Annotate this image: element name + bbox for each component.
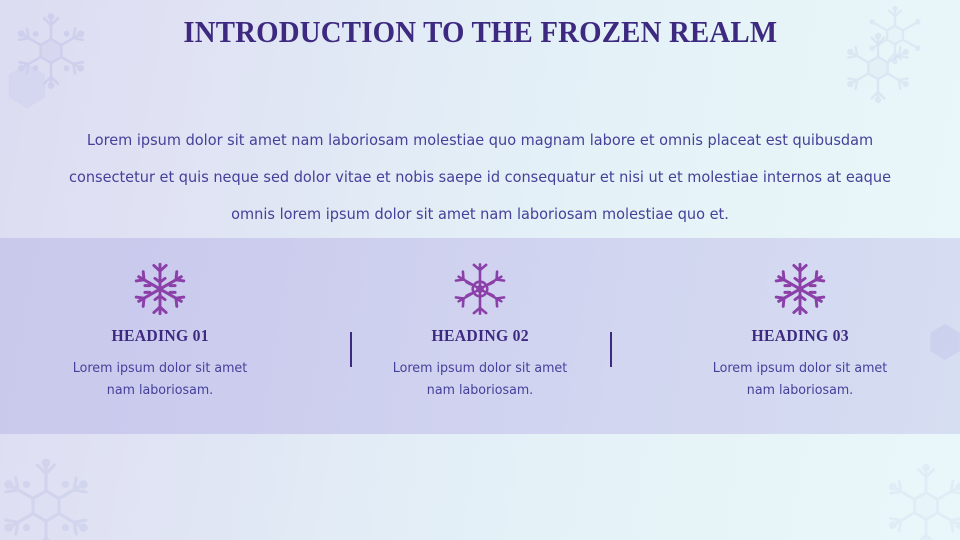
feature-heading-3: HEADING 03 bbox=[751, 326, 848, 346]
feature-body-2: Lorem ipsum dolor sit amet nam laboriosa… bbox=[389, 358, 571, 402]
decorative-snowflake-bottom-right bbox=[878, 458, 960, 540]
feature-body-1: Lorem ipsum dolor sit amet nam laboriosa… bbox=[69, 358, 251, 402]
column-divider-1 bbox=[350, 332, 352, 367]
feature-column-3: HEADING 03 Lorem ipsum dolor sit amet na… bbox=[640, 238, 960, 434]
page-title: INTRODUCTION TO THE FROZEN REALM bbox=[0, 14, 960, 50]
snowflake-icon bbox=[772, 261, 828, 317]
snowflake-icon bbox=[132, 261, 188, 317]
feature-heading-1: HEADING 01 bbox=[111, 326, 208, 346]
decorative-hexagon-top-left bbox=[6, 62, 48, 115]
feature-column-2: HEADING 02 Lorem ipsum dolor sit amet na… bbox=[320, 238, 640, 434]
feature-columns: HEADING 01 Lorem ipsum dolor sit amet na… bbox=[0, 238, 960, 434]
snowflake-ring-icon bbox=[452, 261, 508, 317]
feature-column-1: HEADING 01 Lorem ipsum dolor sit amet na… bbox=[0, 238, 320, 434]
column-divider-2 bbox=[610, 332, 612, 367]
page-title-text: INTRODUCTION TO THE FROZEN REALM bbox=[183, 14, 777, 50]
decorative-snowflake-bottom-left bbox=[0, 452, 100, 540]
intro-paragraph-text: Lorem ipsum dolor sit amet nam laboriosa… bbox=[67, 122, 892, 233]
intro-paragraph: Lorem ipsum dolor sit amet nam laboriosa… bbox=[48, 122, 912, 233]
feature-body-3: Lorem ipsum dolor sit amet nam laboriosa… bbox=[709, 358, 891, 402]
slide-canvas: INTRODUCTION TO THE FROZEN REALM Lorem i… bbox=[0, 0, 960, 540]
feature-heading-2: HEADING 02 bbox=[431, 326, 528, 346]
